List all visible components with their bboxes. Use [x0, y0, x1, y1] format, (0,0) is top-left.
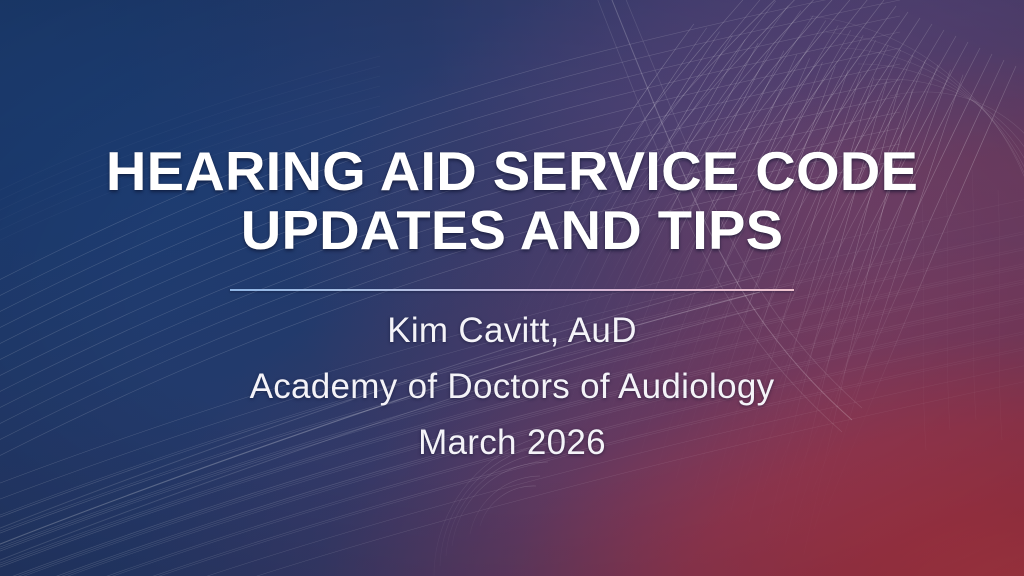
presenter-name: Kim Cavitt, AuD — [0, 303, 1024, 359]
slide-subtitle: Kim Cavitt, AuD Academy of Doctors of Au… — [0, 303, 1024, 471]
title-line-2: UPDATES AND TIPS — [0, 201, 1024, 260]
divider-rule — [230, 289, 794, 291]
title-divider — [0, 289, 1024, 291]
title-slide: HEARING AID SERVICE CODE UPDATES AND TIP… — [0, 0, 1024, 576]
slide-title: HEARING AID SERVICE CODE UPDATES AND TIP… — [0, 142, 1024, 260]
presentation-date: March 2026 — [0, 415, 1024, 471]
organization-name: Academy of Doctors of Audiology — [0, 359, 1024, 415]
title-line-1: HEARING AID SERVICE CODE — [0, 142, 1024, 201]
slide-content: HEARING AID SERVICE CODE UPDATES AND TIP… — [0, 0, 1024, 576]
